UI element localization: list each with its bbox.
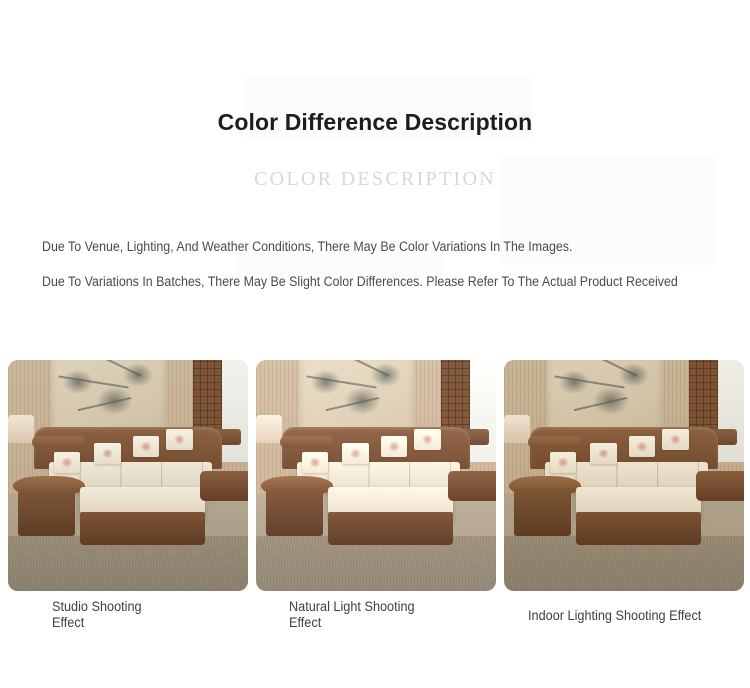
sofa-storage-arm	[514, 489, 572, 535]
sofa-arm-rail	[528, 436, 581, 448]
throw-pillow	[381, 436, 407, 457]
sofa-arm-rail	[280, 436, 333, 448]
pine-needle-cluster	[619, 363, 649, 387]
pine-needle-cluster	[311, 370, 341, 394]
header-section: Color Difference Description COLOR DESCR…	[0, 0, 750, 340]
product-image-gallery	[0, 360, 750, 591]
throw-pillow	[94, 443, 120, 464]
throw-pillow	[629, 436, 655, 457]
potted-plant	[217, 392, 243, 429]
page-subtitle: COLOR DESCRIPTION	[0, 167, 750, 191]
throw-pillow	[550, 452, 576, 473]
coffee-table	[448, 471, 496, 501]
sofa-arm-rail	[32, 436, 85, 448]
notice-text-batch-variation: Due To Variations In Batches, There May …	[42, 273, 678, 291]
product-photo-natural-light[interactable]	[256, 360, 496, 591]
pine-needle-cluster	[371, 363, 401, 387]
sofa-storage-arm	[266, 489, 324, 535]
sofa-scene	[256, 360, 496, 591]
throw-pillow	[54, 452, 80, 473]
floor-lamp	[256, 415, 282, 443]
potted-plant	[713, 392, 739, 429]
throw-pillow	[414, 429, 440, 450]
product-photo-studio[interactable]	[8, 360, 248, 591]
throw-pillow	[166, 429, 192, 450]
pine-needle-cluster	[593, 387, 628, 415]
throw-pillow	[302, 452, 328, 473]
pine-needle-cluster	[123, 363, 153, 387]
chaise-base	[328, 512, 453, 544]
throw-pillow	[590, 443, 616, 464]
throw-pillow	[342, 443, 368, 464]
photo-caption-indoor-lighting: Indoor Lighting Shooting Effect	[528, 608, 744, 624]
photo-caption-natural-light: Natural Light Shooting Effect	[289, 599, 430, 630]
pine-needle-cluster	[345, 387, 380, 415]
product-photo-indoor-lighting[interactable]	[504, 360, 744, 591]
floor-lamp	[504, 415, 530, 443]
chaise-base	[576, 512, 701, 544]
pine-needle-cluster	[63, 370, 93, 394]
coffee-table	[200, 471, 248, 501]
floor-lamp	[8, 415, 34, 443]
potted-plant	[465, 392, 491, 429]
throw-pillow	[662, 429, 688, 450]
page-title: Color Difference Description	[0, 108, 750, 136]
sofa-scene	[504, 360, 744, 591]
photo-caption-studio: Studio Shooting Effect	[52, 599, 174, 630]
sofa-storage-arm	[18, 489, 76, 535]
pine-needle-cluster	[97, 387, 132, 415]
notice-text-venue-lighting: Due To Venue, Lighting, And Weather Cond…	[42, 238, 572, 256]
throw-pillow	[133, 436, 159, 457]
coffee-table	[696, 471, 744, 501]
pine-needle-cluster	[559, 370, 589, 394]
sofa-scene	[8, 360, 248, 591]
chaise-base	[80, 512, 205, 544]
